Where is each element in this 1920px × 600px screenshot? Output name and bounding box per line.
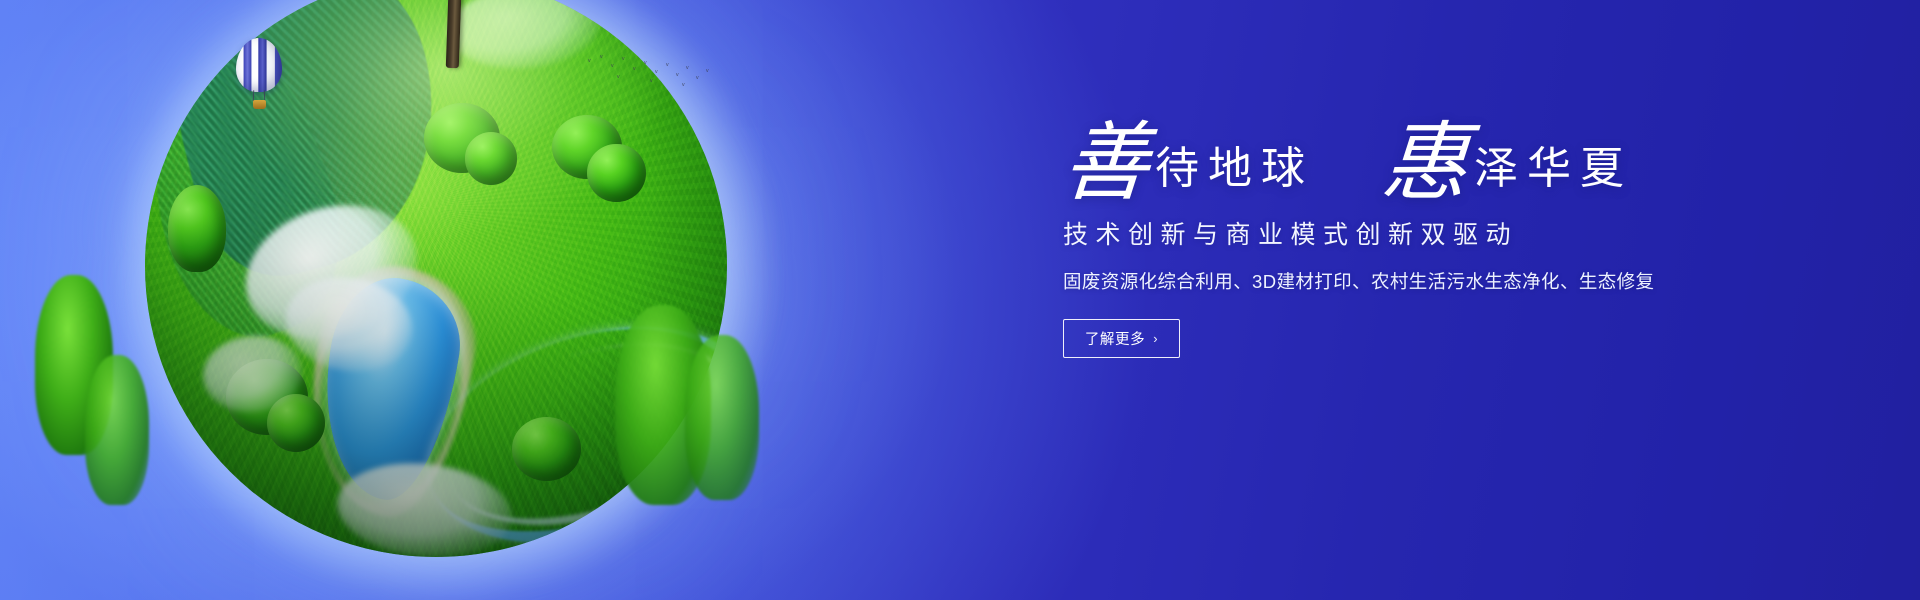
headline-big-char-2: 惠 [1379, 124, 1477, 203]
chevron-right-icon: › [1153, 331, 1158, 346]
foreground-tree [85, 355, 149, 505]
hot-air-balloon-icon [236, 38, 282, 110]
headline-small-text-2: 泽华夏 [1474, 147, 1633, 203]
hero-banner: ᵛ ᵛ ᵛ ᵛ ᵛ ᵛ ᵛ ᵛ ᵛ ᵛ ᵛ ᵛ ᵛ ᵛ ᵛ 善 待地球 惠 泽华… [0, 0, 1920, 600]
balloon-basket [253, 100, 266, 109]
hero-description: 固废资源化综合利用、3D建材打印、农村生活污水生态净化、生态修复 [1063, 269, 1803, 296]
bird-flock-icon: ᵛ ᵛ ᵛ ᵛ ᵛ ᵛ ᵛ ᵛ ᵛ ᵛ ᵛ ᵛ ᵛ ᵛ ᵛ [586, 52, 714, 92]
headline-small-text-1: 待地球 [1155, 147, 1314, 203]
learn-more-label: 了解更多 [1085, 328, 1145, 349]
headline-group-1: 善 待地球 [1063, 124, 1314, 203]
balloon-envelope [236, 38, 282, 92]
headline-big-char-1: 善 [1060, 124, 1158, 203]
hero-headline: 善 待地球 惠 泽华夏 [1063, 124, 1803, 203]
foreground-tree [685, 335, 759, 500]
learn-more-button[interactable]: 了解更多 › [1063, 319, 1180, 358]
hero-subtitle: 技术创新与商业模式创新双驱动 [1063, 219, 1803, 252]
headline-group-2: 惠 泽华夏 [1382, 124, 1633, 203]
hero-content: 善 待地球 惠 泽华夏 技术创新与商业模式创新双驱动 固废资源化综合利用、3D建… [1063, 124, 1803, 358]
